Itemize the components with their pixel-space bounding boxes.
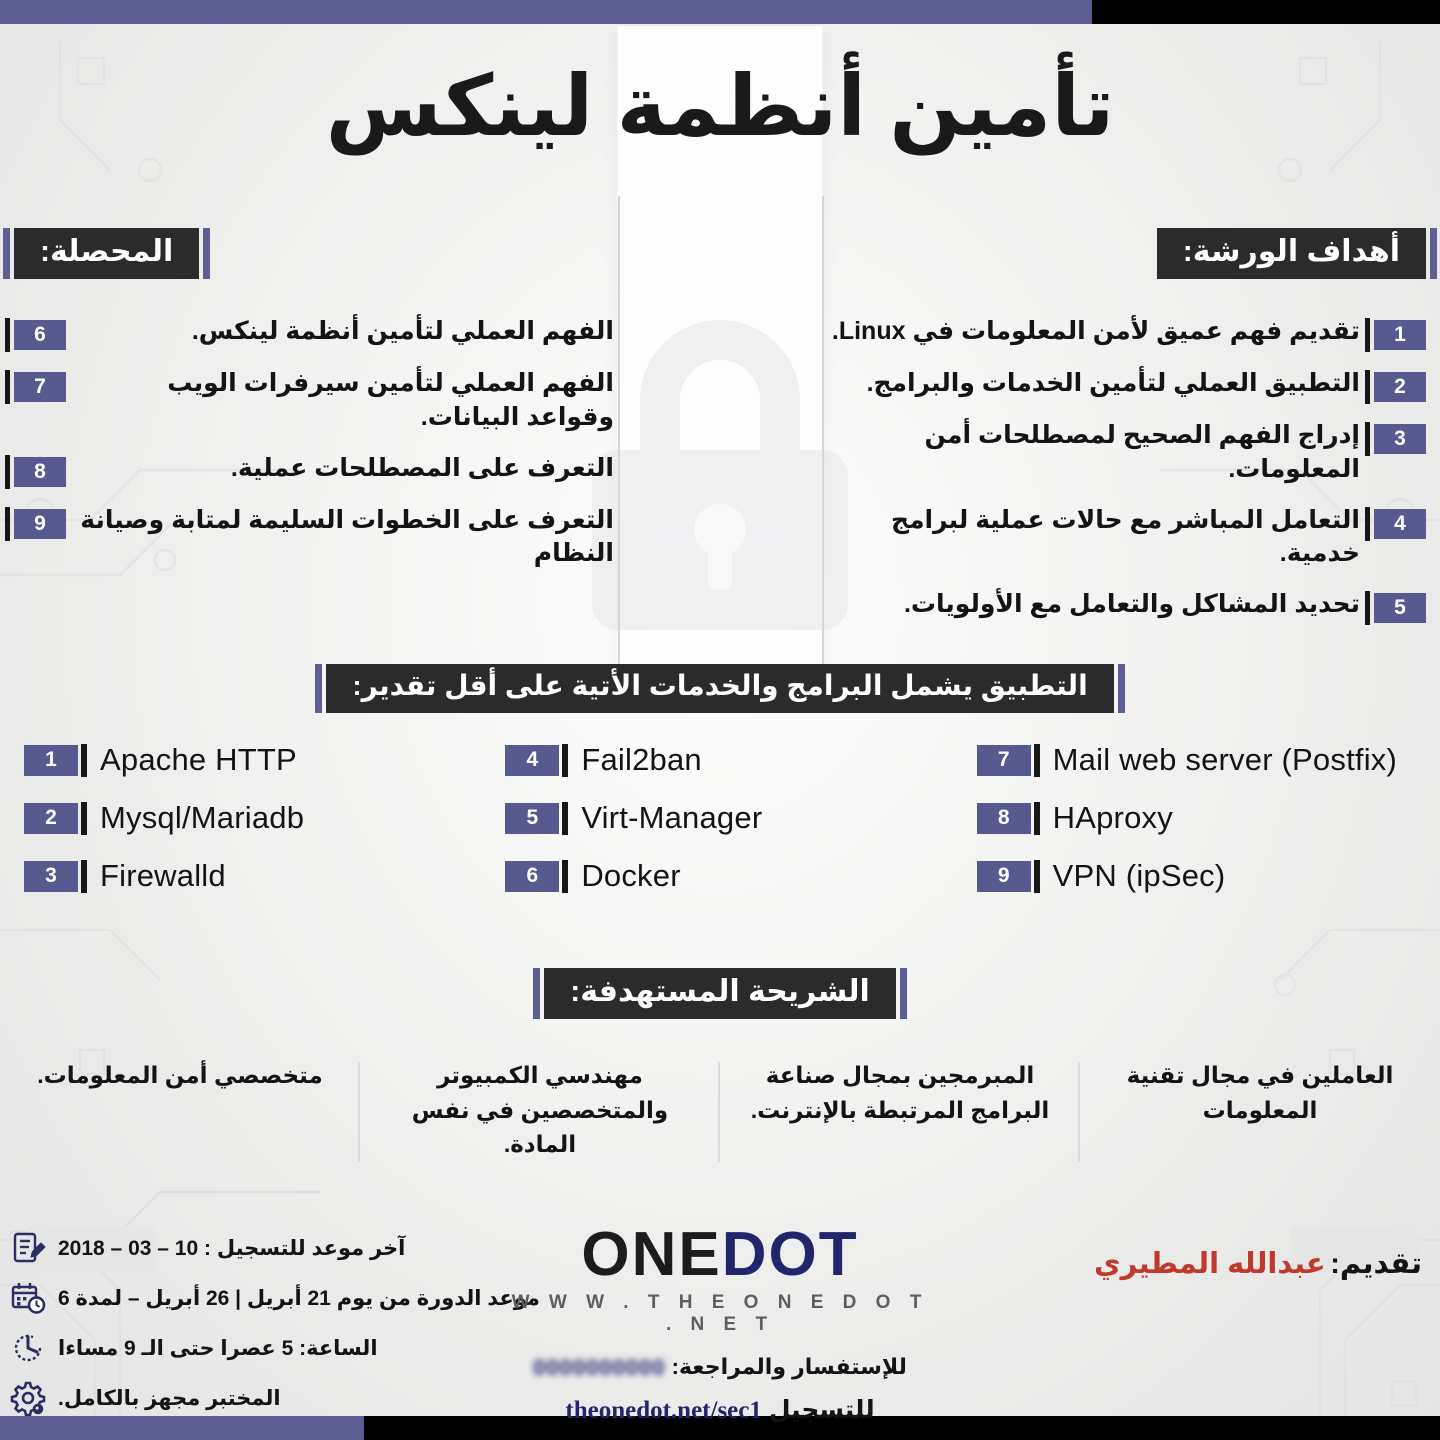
logo-part-e: E xyxy=(678,1220,721,1289)
audience-item: العاملين في مجال تقنية المعلومات xyxy=(1080,1058,1440,1166)
goal-row: 3 إدراج الفهم الصحيح لمصطلحات أمن المعلو… xyxy=(806,419,1426,487)
outcome-number: 8 xyxy=(14,457,66,487)
gear-icon xyxy=(10,1380,46,1416)
audience-item: متخصصي أمن المعلومات. xyxy=(0,1058,360,1166)
register-link[interactable]: theonedot.net/sec1 xyxy=(565,1397,762,1425)
contact-label: للإستفسار والمراجعة: xyxy=(672,1354,907,1379)
app-name: Mysql/Mariadb xyxy=(78,800,304,836)
onedot-logo: ONEDOT xyxy=(505,1224,935,1286)
footer-detail-row: المختبر مجهز بالكامل. xyxy=(10,1380,430,1416)
outcome-text: الفهم العملي لتأمين سيرفرات الويب وقواعد… xyxy=(66,367,614,435)
outcome-text: التعرف على المصطلحات عملية. xyxy=(66,452,614,486)
app-name: Apache HTTP xyxy=(78,742,297,778)
app-number: 2 xyxy=(24,803,78,834)
goal-number: 5 xyxy=(1374,593,1426,623)
app-row: 8 HAproxy xyxy=(977,800,1432,836)
apps-banner: التطبيق يشمل البرامج والخدمات الأتية على… xyxy=(0,664,1440,713)
app-row: 3 Firewalld xyxy=(24,858,479,894)
footer-detail-row: الساعة: 5 عصرا حتى الـ 9 مساءا xyxy=(10,1330,430,1366)
footer-detail-text: موعد الدورة من يوم 21 أبريل | 26 أبريل –… xyxy=(58,1286,540,1311)
poster-root: تأمين أنظمة لينكس أهداف الورشة: 1 تقديم … xyxy=(0,0,1440,1440)
registration-line: للتسجيل theonedot.net/sec1 xyxy=(505,1395,935,1425)
app-number: 4 xyxy=(505,745,559,776)
app-name: Firewalld xyxy=(78,858,226,894)
goals-section: أهداف الورشة: 1 تقديم فهم عميق لأمن المع… xyxy=(806,228,1426,640)
app-number: 3 xyxy=(24,861,78,892)
goals-heading: أهداف الورشة: xyxy=(1157,228,1426,279)
apps-grid: 1 Apache HTTP 2 Mysql/Mariadb 3 Firewall… xyxy=(0,742,1440,916)
top-accent-bar xyxy=(0,0,1440,24)
app-name: Mail web server (Postfix) xyxy=(1031,742,1397,778)
presenter-name: عبدالله المطيري xyxy=(1094,1248,1326,1280)
goal-text: تقديم فهم عميق لأمن المعلومات في Linux. xyxy=(806,315,1374,349)
app-row: 1 Apache HTTP xyxy=(24,742,479,778)
goal-row: 5 تحديد المشاكل والتعامل مع الأولويات. xyxy=(806,588,1426,623)
contact-number: 0000000000 xyxy=(533,1355,665,1381)
goal-number: 3 xyxy=(1374,424,1426,454)
audience-item: مهندسي الكمبيوتر والمتخصصين في نفس الماد… xyxy=(360,1058,720,1166)
goals-list: 1 تقديم فهم عميق لأمن المعلومات في Linux… xyxy=(806,315,1426,623)
app-name: Virt-Manager xyxy=(559,800,762,836)
apps-column: 4 Fail2ban 5 Virt-Manager 6 Docker xyxy=(487,742,968,916)
footer-detail-text: الساعة: 5 عصرا حتى الـ 9 مساءا xyxy=(58,1336,378,1361)
app-number: 5 xyxy=(505,803,559,834)
goal-number: 4 xyxy=(1374,509,1426,539)
app-number: 8 xyxy=(977,803,1031,834)
top-bar-black-segment xyxy=(1092,0,1440,24)
goal-text: التعامل المباشر مع حالات عملية لبرامج خد… xyxy=(806,504,1374,572)
registration-form-icon xyxy=(10,1230,46,1266)
goal-row: 4 التعامل المباشر مع حالات عملية لبرامج … xyxy=(806,504,1426,572)
top-bar-purple-segment xyxy=(0,0,1092,24)
contact-line: للإستفسار والمراجعة: 0000000000 xyxy=(505,1354,935,1381)
footer: آخر موعد للتسجيل : 10 – 03 – 2018 موعد ا… xyxy=(0,1224,1440,1424)
outcomes-heading: المحصلة: xyxy=(14,228,199,279)
footer-detail-text: آخر موعد للتسجيل : 10 – 03 – 2018 xyxy=(58,1236,405,1261)
app-name: Docker xyxy=(559,858,680,894)
outcome-text: التعرف على الخطوات السليمة لمتابة وصيانة… xyxy=(66,504,614,572)
footer-detail-row: آخر موعد للتسجيل : 10 – 03 – 2018 xyxy=(10,1230,430,1266)
app-number: 1 xyxy=(24,745,78,776)
audience-grid: العاملين في مجال تقنية المعلومات المبرمج… xyxy=(0,1058,1440,1166)
goal-row: 1 تقديم فهم عميق لأمن المعلومات في Linux… xyxy=(806,315,1426,350)
app-row: 6 Docker xyxy=(505,858,960,894)
footer-detail-row: موعد الدورة من يوم 21 أبريل | 26 أبريل –… xyxy=(10,1280,430,1316)
goal-number: 1 xyxy=(1374,320,1426,350)
outcome-number: 9 xyxy=(14,509,66,539)
app-number: 9 xyxy=(977,861,1031,892)
app-row: 5 Virt-Manager xyxy=(505,800,960,836)
app-row: 4 Fail2ban xyxy=(505,742,960,778)
logo-url: W W W . T H E O N E D O T . N E T xyxy=(505,1292,935,1336)
page-title: تأمين أنظمة لينكس xyxy=(0,62,1440,150)
outcome-row: 7 الفهم العملي لتأمين سيرفرات الويب وقوا… xyxy=(14,367,614,435)
goal-text: التطبيق العملي لتأمين الخدمات والبرامج. xyxy=(806,367,1374,401)
audience-banner: الشريحة المستهدفة: xyxy=(0,968,1440,1019)
outcome-number: 7 xyxy=(14,372,66,402)
apps-column: 1 Apache HTTP 2 Mysql/Mariadb 3 Firewall… xyxy=(0,742,487,916)
logo-part-dot: DOT xyxy=(722,1220,859,1289)
audience-heading: الشريحة المستهدفة: xyxy=(544,968,896,1019)
outcome-row: 6 الفهم العملي لتأمين أنظمة لينكس. xyxy=(14,315,614,350)
app-number: 6 xyxy=(505,861,559,892)
app-number: 7 xyxy=(977,745,1031,776)
app-name: HAproxy xyxy=(1031,800,1173,836)
apps-column: 7 Mail web server (Postfix) 8 HAproxy 9 … xyxy=(969,742,1440,916)
outcome-row: 9 التعرف على الخطوات السليمة لمتابة وصيا… xyxy=(14,504,614,572)
goal-text: إدراج الفهم الصحيح لمصطلحات أمن المعلوما… xyxy=(806,419,1374,487)
apps-heading: التطبيق يشمل البرامج والخدمات الأتية على… xyxy=(326,664,1113,713)
app-name: Fail2ban xyxy=(559,742,702,778)
goal-text: تحديد المشاكل والتعامل مع الأولويات. xyxy=(806,588,1374,622)
outcomes-section: المحصلة: 6 الفهم العملي لتأمين أنظمة لين… xyxy=(14,228,614,588)
center-divider-left xyxy=(618,196,620,666)
calendar-clock-icon xyxy=(10,1280,46,1316)
register-label: للتسجيل xyxy=(769,1396,875,1424)
app-row: 7 Mail web server (Postfix) xyxy=(977,742,1432,778)
app-row: 9 VPN (ipSec) xyxy=(977,858,1432,894)
brand-block: ONEDOT W W W . T H E O N E D O T . N E T… xyxy=(505,1224,935,1425)
clock-icon xyxy=(10,1330,46,1366)
outcome-text: الفهم العملي لتأمين أنظمة لينكس. xyxy=(66,315,614,349)
footer-details: آخر موعد للتسجيل : 10 – 03 – 2018 موعد ا… xyxy=(10,1230,430,1430)
goal-number: 2 xyxy=(1374,372,1426,402)
goal-row: 2 التطبيق العملي لتأمين الخدمات والبرامج… xyxy=(806,367,1426,402)
outcome-row: 8 التعرف على المصطلحات عملية. xyxy=(14,452,614,487)
app-row: 2 Mysql/Mariadb xyxy=(24,800,479,836)
outcomes-list: 6 الفهم العملي لتأمين أنظمة لينكس. 7 الف… xyxy=(14,315,614,571)
logo-part-one: ON xyxy=(581,1220,678,1289)
app-name: VPN (ipSec) xyxy=(1031,858,1226,894)
presenter-label: تقديم: xyxy=(1330,1248,1422,1280)
footer-detail-text: المختبر مجهز بالكامل. xyxy=(58,1386,281,1411)
presenter-block: تقديم: عبدالله المطيري xyxy=(1094,1246,1422,1281)
audience-item: المبرمجين بمجال صناعة البرامج المرتبطة ب… xyxy=(720,1058,1080,1166)
outcome-number: 6 xyxy=(14,320,66,350)
